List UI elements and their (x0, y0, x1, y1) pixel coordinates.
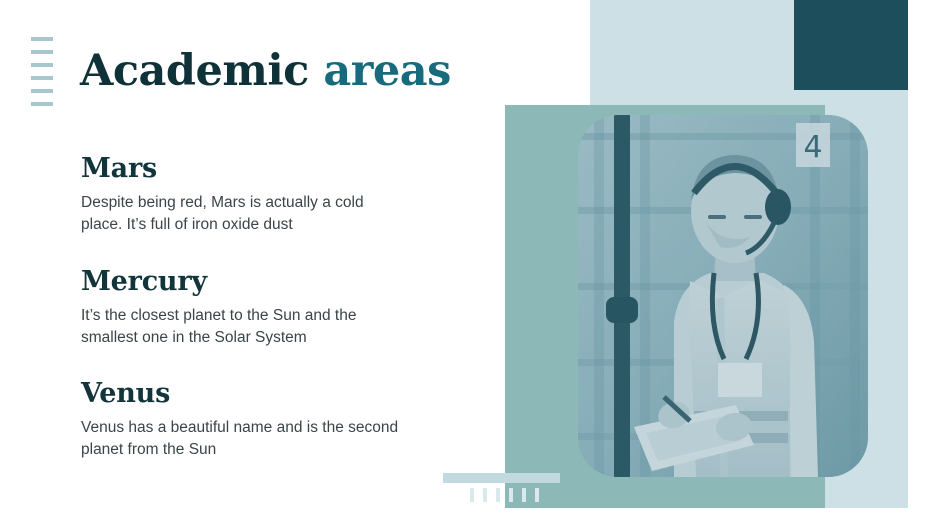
dark-teal-square (794, 0, 908, 90)
left-tick-2 (31, 50, 53, 54)
section-body: Venus has a beautiful name and is the se… (81, 417, 401, 462)
bottom-accent-bar (443, 473, 560, 483)
worker-with-headset-and-clipboard-photo: 4 (578, 115, 868, 477)
left-tick-3 (31, 63, 53, 67)
bottom-tick-3 (496, 488, 500, 502)
bottom-tick-4 (509, 488, 513, 502)
bottom-tick-1 (470, 488, 474, 502)
section-heading: Mercury (81, 268, 401, 295)
section-body: Despite being red, Mars is actually a co… (81, 192, 401, 237)
bottom-tick-marks-decoration (470, 488, 539, 502)
content-section-mercury: Mercury It’s the closest planet to the S… (81, 268, 401, 350)
content-section-venus: Venus Venus has a beautiful name and is … (81, 380, 401, 462)
title-word-primary: Academic (80, 46, 309, 96)
photo-illustration: 4 (578, 115, 868, 477)
left-tick-5 (31, 89, 53, 93)
bottom-tick-6 (535, 488, 539, 502)
bottom-tick-2 (483, 488, 487, 502)
content-section-mars: Mars Despite being red, Mars is actually… (81, 155, 401, 237)
section-body: It’s the closest planet to the Sun and t… (81, 305, 401, 350)
title-word-accent: areas (323, 46, 450, 96)
left-tick-1 (31, 37, 53, 41)
left-tick-6 (31, 102, 53, 106)
left-tick-4 (31, 76, 53, 80)
slide-canvas: 4 (0, 0, 937, 527)
slide-title: Academic areas (80, 50, 451, 93)
section-heading: Mars (81, 155, 401, 182)
bottom-tick-5 (522, 488, 526, 502)
section-heading: Venus (81, 380, 401, 407)
left-tick-marks-decoration (31, 37, 53, 115)
